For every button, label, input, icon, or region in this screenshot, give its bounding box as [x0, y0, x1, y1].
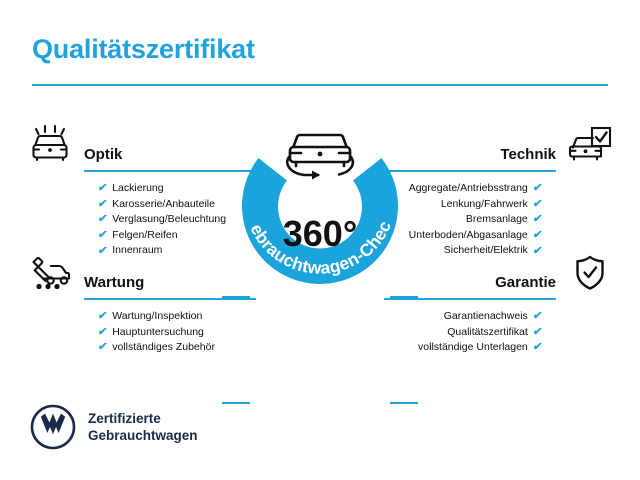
- car-service-pen-icon: [24, 252, 76, 292]
- list-item-label: Bremsanlage: [466, 212, 528, 228]
- list-item-label: Karosserie/Anbauteile: [112, 197, 215, 213]
- check-icon: ✔: [532, 342, 543, 353]
- vw-logo-icon: [30, 404, 76, 450]
- section-wartung-title: Wartung: [84, 275, 144, 292]
- section-wartung-list: ✔Wartung/Inspektion ✔Hauptuntersuchung ✔…: [24, 309, 256, 356]
- car-rotate-360-icon: [287, 135, 353, 180]
- list-item-label: Qualitätszertifikat: [447, 325, 528, 341]
- section-optik-title: Optik: [84, 147, 122, 164]
- check-icon: ✔: [532, 183, 543, 194]
- list-item-label: vollständiges Zubehör: [112, 340, 215, 356]
- check-icon: ✔: [97, 342, 108, 353]
- list-item-label: Wartung/Inspektion: [112, 309, 202, 325]
- car-shine-icon: [24, 124, 76, 164]
- section-garantie-header: Garantie: [384, 258, 616, 292]
- shield-check-icon: [564, 252, 616, 292]
- list-item: ✔Wartung/Inspektion: [98, 309, 256, 325]
- list-item-label: Garantienachweis: [444, 309, 528, 325]
- check-icon: ✔: [532, 199, 543, 210]
- check-icon: ✔: [532, 246, 543, 257]
- section-technik-header: Technik: [384, 130, 616, 164]
- section-garantie-list: Garantienachweis✔ Qualitätszertifikat✔ v…: [384, 309, 616, 356]
- tick-left-upper: [222, 296, 250, 298]
- check-icon: ✔: [97, 311, 108, 322]
- list-item: vollständige Unterlagen✔: [384, 340, 542, 356]
- page-title: Qualitätszertifikat: [32, 34, 255, 65]
- tick-right-lower: [390, 402, 418, 404]
- check-icon: ✔: [532, 311, 543, 322]
- check-icon: ✔: [532, 327, 543, 338]
- footer-line-2: Gebrauchtwagen: [88, 427, 198, 444]
- section-technik: Technik Aggregate/Antriebsstrang✔ Lenkun…: [384, 130, 616, 259]
- list-item: ✔vollständiges Zubehör: [98, 340, 256, 356]
- check-icon: ✔: [97, 246, 108, 257]
- list-item-label: Unterboden/Abgasanlage: [409, 228, 528, 244]
- footer-branding: Zertifizierte Gebrauchtwagen: [30, 404, 198, 450]
- section-garantie-title: Garantie: [495, 275, 556, 292]
- footer-line-1: Zertifizierte: [88, 410, 198, 427]
- section-technik-list: Aggregate/Antriebsstrang✔ Lenkung/Fahrwe…: [384, 181, 616, 259]
- tick-left-lower: [222, 402, 250, 404]
- list-item: Garantienachweis✔: [384, 309, 542, 325]
- list-item-label: Hauptuntersuchung: [112, 325, 204, 341]
- title-divider: [32, 84, 608, 86]
- check-icon: ✔: [97, 230, 108, 241]
- list-item-label: Innenraum: [112, 243, 162, 259]
- list-item-label: Lackierung: [112, 181, 163, 197]
- check-icon: ✔: [97, 183, 108, 194]
- section-technik-title: Technik: [500, 147, 556, 164]
- check-icon: ✔: [97, 199, 108, 210]
- check-icon: ✔: [532, 214, 543, 225]
- list-item-label: Felgen/Reifen: [112, 228, 177, 244]
- section-garantie: Garantie Garantienachweis✔ Qualitätszert…: [384, 258, 616, 356]
- check-icon: ✔: [97, 214, 108, 225]
- tick-right-upper: [390, 296, 418, 298]
- list-item: ✔Hauptuntersuchung: [98, 325, 256, 341]
- car-checkbox-icon: [564, 124, 616, 164]
- list-item: Qualitätszertifikat✔: [384, 325, 542, 341]
- footer-text: Zertifizierte Gebrauchtwagen: [88, 410, 198, 444]
- check-icon: ✔: [532, 230, 543, 241]
- list-item-label: Sicherheit/Elektrik: [444, 243, 528, 259]
- badge-degrees: 360°: [283, 213, 357, 254]
- list-item-label: vollständige Unterlagen: [418, 340, 528, 356]
- list-item-label: Aggregate/Antriebsstrang: [409, 181, 528, 197]
- list-item-label: Verglasung/Beleuchtung: [112, 212, 226, 228]
- list-item-label: Lenkung/Fahrwerk: [441, 197, 528, 213]
- badge-360-gebrauchtwagen-check: 360° Gebrauchtwagen-Check: [222, 112, 418, 308]
- check-icon: ✔: [97, 327, 108, 338]
